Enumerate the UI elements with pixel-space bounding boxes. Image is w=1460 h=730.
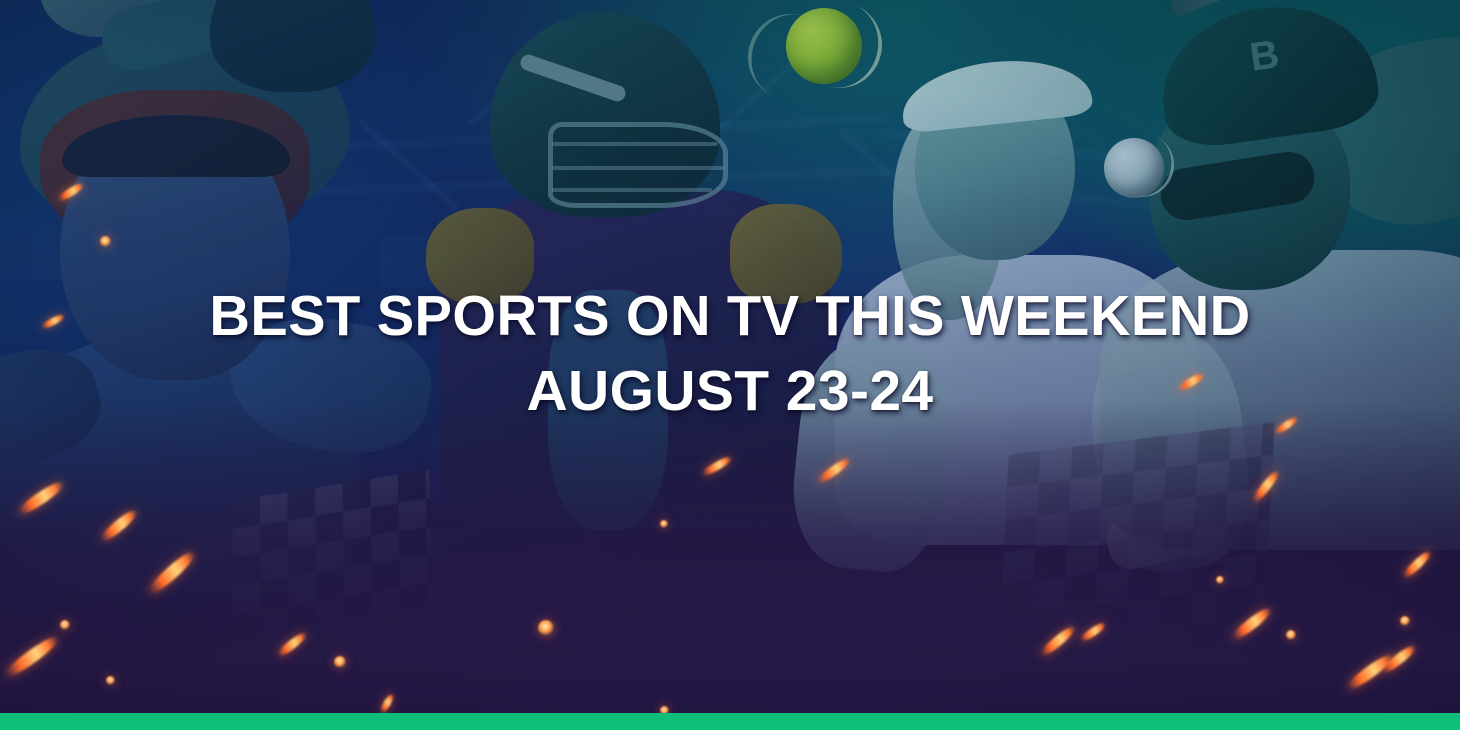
banner-title: BEST SPORTS ON TV THIS WEEKEND AUGUST 23…: [0, 288, 1460, 420]
bottom-accent-bar: [0, 713, 1460, 730]
title-line-primary: BEST SPORTS ON TV THIS WEEKEND: [11, 288, 1449, 345]
sports-weekend-banner: B: [0, 0, 1460, 730]
title-line-secondary: AUGUST 23-24: [0, 363, 1460, 420]
